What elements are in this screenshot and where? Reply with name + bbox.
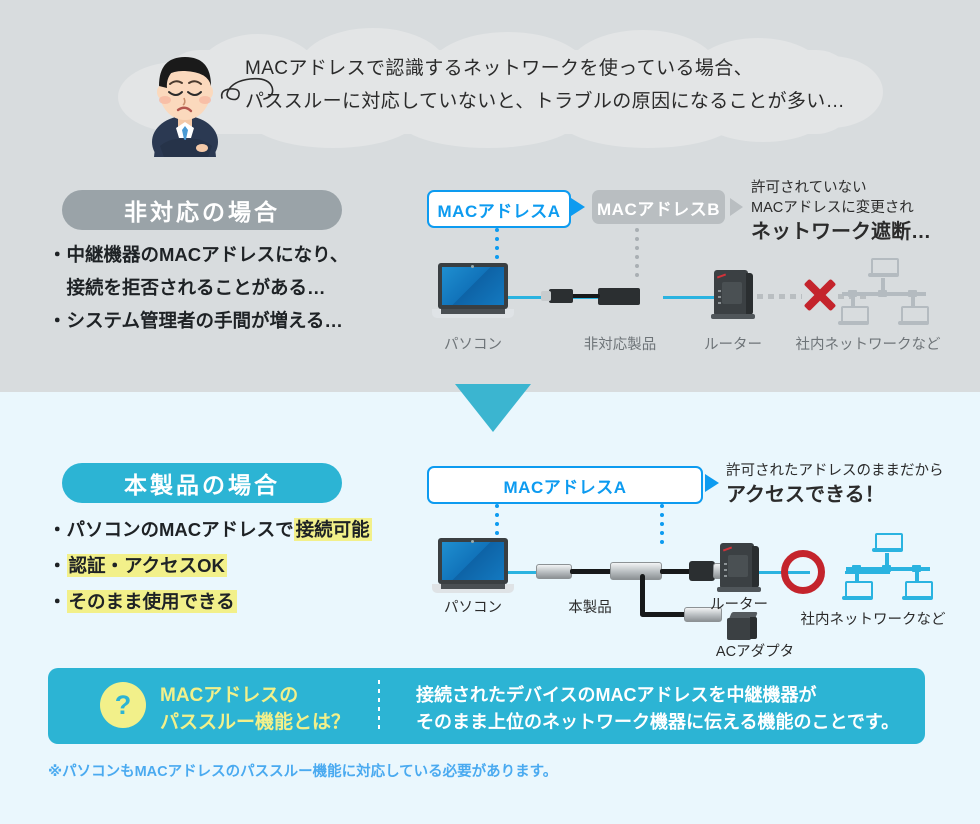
device-label-pc: パソコン: [432, 333, 514, 354]
mac-address-a-box: MACアドレスA: [427, 190, 571, 228]
usb-plug-tip: [541, 291, 551, 301]
usb-plug-icon: [549, 289, 573, 303]
question-mark-icon: ?: [100, 682, 146, 728]
info-title: MACアドレスの パススルー機能とは？: [160, 682, 350, 736]
bullet-item: ・そのまま使用できる: [48, 584, 418, 620]
device-label-router: ルーター: [698, 333, 768, 354]
unsupported-result-caption: 許可されていない MACアドレスに変更され ネットワーク遮断…: [751, 178, 931, 245]
bullet-prefix: ・: [48, 555, 67, 576]
dotted-connector-device: [660, 504, 664, 549]
sigh-spiral-icon: [218, 58, 278, 104]
bullet-item: ・システム管理者の手間が増える…: [48, 304, 418, 337]
supported-bullets: ・パソコンのMACアドレスで接続可能 ・認証・アクセスOK ・そのまま使用できる: [48, 512, 418, 620]
result-bold: ネットワーク遮断…: [751, 219, 931, 245]
bullet-item: ・パソコンのMACアドレスで接続可能: [48, 512, 418, 548]
info-title-line-2: パススルー機能とは？: [160, 709, 350, 736]
bullet-item: ・認証・アクセスOK: [48, 548, 418, 584]
bullet-highlight: そのまま使用できる: [67, 590, 237, 613]
vertical-divider: [378, 680, 380, 732]
device-label-router: ルーター: [704, 593, 774, 614]
usb-lan-adapter-icon: [610, 562, 662, 580]
ac-adapter-icon: [727, 612, 757, 640]
speech-line-1: MACアドレスで認識するネットワークを使っている場合、: [245, 52, 885, 85]
laptop-icon: [432, 538, 514, 596]
result-line-2: MACアドレスに変更され: [751, 198, 931, 218]
product-cable-2: [660, 569, 692, 574]
speech-line-2: パススルーに対応していないと、トラブルの原因になることが多い…: [245, 85, 885, 118]
infographic-canvas: MACアドレスで認識するネットワークを使っている場合、 パススルーに対応していな…: [0, 0, 980, 824]
bullet-prefix: ・: [48, 591, 67, 612]
device-label-product: 本製品: [555, 596, 625, 617]
unsupported-bullets: ・中継機器のMACアドレスになり、 接続を拒否されることがある… ・システム管理…: [48, 238, 418, 337]
supported-pill: 本製品の場合: [62, 463, 342, 503]
power-cable-horizontal: [640, 612, 688, 617]
router-icon: [712, 268, 754, 320]
network-cluster-icon: [832, 533, 942, 605]
result-bold: アクセスできる！: [726, 482, 944, 508]
power-cable-vertical: [640, 574, 645, 616]
usb-adapter-icon: [598, 288, 640, 305]
result-line-1: 許可されていない: [751, 178, 931, 198]
arrow-right-grey-icon: [730, 198, 743, 216]
unsupported-pill: 非対応の場合: [62, 190, 342, 230]
device-label-network: 社内ネットワークなど: [793, 333, 943, 354]
arrow-right-blue-icon: [571, 198, 585, 216]
device-label-pc: パソコン: [432, 596, 514, 617]
bullet-item: 接続を拒否されることがある…: [48, 271, 418, 304]
down-triangle-arrow-icon: [455, 384, 531, 432]
bullet-highlight: 認証・アクセスOK: [67, 554, 227, 577]
wire-adapter-to-router: [663, 296, 718, 299]
o-mark-icon: [781, 550, 825, 594]
device-label-adapter: 非対応製品: [575, 333, 665, 354]
footnote: ※パソコンもMACアドレスのパススルー機能に対応している必要があります。: [48, 760, 557, 781]
dotted-connector-b: [635, 228, 639, 282]
wire-router-to-x: [757, 294, 802, 299]
mac-address-b-box: MACアドレスB: [592, 190, 725, 224]
laptop-icon: [432, 263, 514, 321]
info-box: ? MACアドレスの パススルー機能とは？ 接続されたデバイスのMACアドレスを…: [48, 668, 925, 744]
router-icon: [718, 541, 760, 593]
rj45-connector-icon: [689, 561, 715, 581]
speech-text: MACアドレスで認識するネットワークを使っている場合、 パススルーに対応していな…: [245, 52, 885, 118]
arrow-right-blue-icon: [705, 474, 719, 492]
worried-businessman-icon: [140, 42, 230, 157]
network-cluster-icon: [828, 258, 938, 330]
device-label-ac-adapter: ACアダプタ: [705, 640, 805, 661]
mac-address-a-box-supported: MACアドレスA: [427, 466, 703, 504]
device-label-network: 社内ネットワークなど: [793, 608, 953, 629]
usb-c-plug-icon: [536, 564, 572, 579]
info-body-line-2: そのまま上位のネットワーク機器に伝える機能のことです。: [416, 709, 899, 736]
product-cable-1: [570, 569, 612, 574]
supported-result-caption: 許可されたアドレスのままだから アクセスできる！: [726, 461, 944, 508]
info-title-line-1: MACアドレスの: [160, 682, 350, 709]
adapter-cable: [570, 294, 600, 298]
result-line-1: 許可されたアドレスのままだから: [726, 461, 944, 481]
bullet-item: ・中継機器のMACアドレスになり、: [48, 238, 418, 271]
bullet-prefix: ・パソコンのMACアドレスで: [48, 519, 294, 540]
info-body: 接続されたデバイスのMACアドレスを中継機器が そのまま上位のネットワーク機器に…: [416, 682, 899, 736]
info-body-line-1: 接続されたデバイスのMACアドレスを中継機器が: [416, 682, 899, 709]
bullet-highlight: 接続可能: [294, 518, 372, 541]
